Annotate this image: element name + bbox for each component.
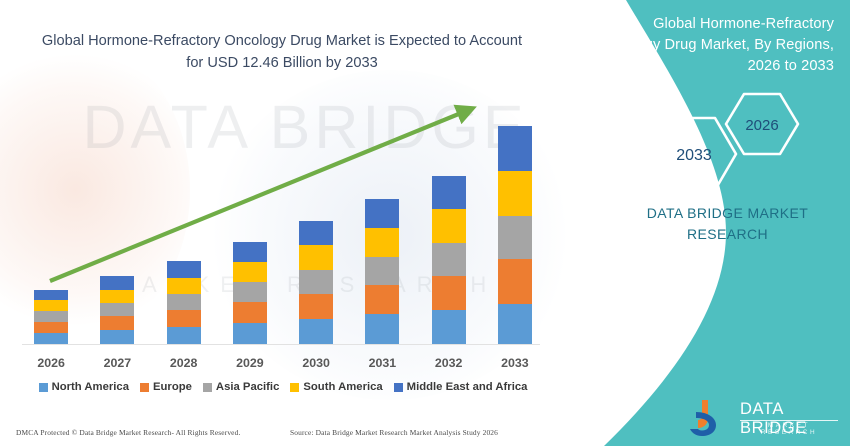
legend-label: South America [303, 381, 382, 393]
bar-2028[interactable] [167, 261, 201, 344]
bar-2027[interactable] [100, 276, 134, 344]
footer-source-notice: Source: Data Bridge Market Research Mark… [290, 428, 498, 437]
x-axis-label-2032: 2032 [419, 356, 479, 370]
bar-segment [34, 333, 68, 344]
bar-segment [100, 316, 134, 330]
bar-segment [432, 209, 466, 243]
bar-segment [100, 276, 134, 289]
bar-segment [233, 323, 267, 344]
bar-2029[interactable] [233, 242, 267, 344]
footer-dmca-notice: DMCA Protected © Data Bridge Market Rese… [16, 428, 240, 437]
legend-item-south-america[interactable]: South America [290, 381, 382, 393]
bar-segment [100, 330, 134, 344]
bar-segment [299, 270, 333, 294]
bar-segment [365, 314, 399, 344]
bar-segment [498, 126, 532, 171]
bar-chart-plot [18, 108, 548, 344]
chart-title: Global Hormone-Refractory Oncology Drug … [32, 30, 532, 74]
bar-segment [167, 310, 201, 327]
bar-segment [299, 245, 333, 269]
bar-segment [167, 261, 201, 277]
bar-segment [365, 199, 399, 228]
bar-segment [365, 228, 399, 257]
legend-label: North America [52, 381, 129, 393]
hexagon-2026-label: 2026 [745, 117, 778, 134]
x-axis-line [22, 344, 540, 345]
bar-segment [299, 221, 333, 245]
legend-swatch-icon [39, 383, 48, 392]
bar-segment [100, 303, 134, 316]
infographic-root: DATA BRIDGE MARKET RESEARCH Global Hormo… [0, 0, 850, 446]
logo-divider [740, 420, 838, 421]
x-axis-labels: 20262027202820292030203120322033 [18, 356, 548, 374]
panel-title: Global Hormone-Refractory Oncology Drug … [588, 14, 834, 77]
x-axis-label-2029: 2029 [220, 356, 280, 370]
bar-segment [100, 290, 134, 304]
bar-segment [233, 302, 267, 323]
bar-segment [233, 262, 267, 282]
bar-segment [498, 304, 532, 344]
legend-label: Middle East and Africa [407, 381, 528, 393]
data-bridge-logo: DATA BRIDGE MARKET RESEARCH [690, 398, 840, 438]
legend-swatch-icon [290, 383, 299, 392]
legend-item-north-america[interactable]: North America [39, 381, 129, 393]
bar-2032[interactable] [432, 176, 466, 344]
logo-mark-icon [690, 398, 738, 438]
bar-2031[interactable] [365, 199, 399, 344]
legend-item-europe[interactable]: Europe [140, 381, 192, 393]
legend-label: Europe [153, 381, 192, 393]
bar-segment [167, 327, 201, 344]
bar-segment [365, 285, 399, 314]
logo-subtitle: MARKET RESEARCH [740, 422, 838, 436]
bar-segment [233, 282, 267, 302]
legend-swatch-icon [203, 383, 212, 392]
bar-segment [432, 176, 466, 209]
bar-segment [365, 257, 399, 285]
bar-segment [299, 319, 333, 344]
x-axis-label-2030: 2030 [286, 356, 346, 370]
bar-segment [34, 311, 68, 321]
legend-item-middle-east-and-africa[interactable]: Middle East and Africa [394, 381, 528, 393]
legend-swatch-icon [140, 383, 149, 392]
bar-2030[interactable] [299, 221, 333, 344]
bar-segment [498, 171, 532, 216]
x-axis-label-2031: 2031 [352, 356, 412, 370]
legend-swatch-icon [394, 383, 403, 392]
panel-brand-text: DATA BRIDGE MARKET RESEARCH [615, 203, 840, 245]
legend-label: Asia Pacific [216, 381, 279, 393]
bar-segment [498, 216, 532, 259]
bar-segment [34, 300, 68, 311]
legend-item-asia-pacific[interactable]: Asia Pacific [203, 381, 279, 393]
chart-legend: North AmericaEuropeAsia PacificSouth Ame… [18, 381, 548, 393]
x-axis-label-2026: 2026 [21, 356, 81, 370]
bar-segment [34, 322, 68, 333]
x-axis-label-2027: 2027 [87, 356, 147, 370]
bar-segment [432, 276, 466, 310]
bar-segment [432, 310, 466, 344]
x-axis-label-2028: 2028 [154, 356, 214, 370]
x-axis-label-2033: 2033 [485, 356, 545, 370]
hexagon-2033-label: 2033 [676, 147, 712, 164]
bar-segment [498, 259, 532, 304]
bar-2033[interactable] [498, 126, 532, 344]
hexagon-badges: 2033 2026 [640, 88, 820, 193]
bar-2026[interactable] [34, 290, 68, 344]
bar-segment [233, 242, 267, 262]
bar-segment [167, 294, 201, 310]
bar-segment [34, 290, 68, 301]
bar-segment [432, 243, 466, 276]
bar-segment [167, 278, 201, 294]
bar-segment [299, 294, 333, 319]
